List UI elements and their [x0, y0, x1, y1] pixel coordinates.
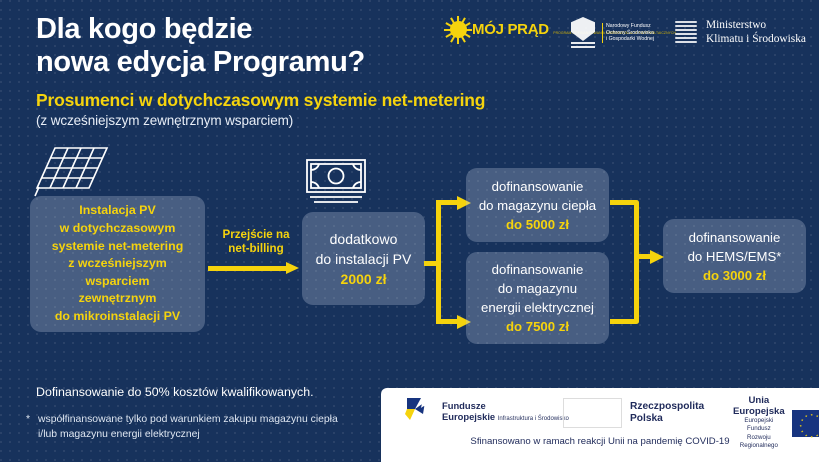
nfosigw-line-3: i Gospodarki Wodnej — [606, 36, 654, 42]
page-title: Dla kogo będzie nowa edycja Programu? — [36, 13, 365, 79]
unia-line-2: Europejski Fundusz — [733, 417, 785, 433]
box-heat-line-2: do magazynu ciepła — [479, 196, 596, 215]
footer-logo-group: Fundusze Europejskie Infrastruktura i Śr… — [381, 394, 819, 432]
footnote: * współfinansowane tylko pod warunkiem z… — [26, 412, 376, 442]
ministry-line-2: Klimatu i Środowiska — [706, 33, 806, 45]
fundusze-line-3: Infrastruktura i Środowisko — [498, 416, 569, 422]
title-line-1: Dla kogo będzie — [36, 13, 252, 45]
box-extra-line-1: dodatkowo — [316, 229, 412, 249]
rzeczpospolita-polska-logo: Rzeczpospolita Polska — [563, 398, 704, 428]
box-heat-storage-funding[interactable]: dofinansowanie do magazynu ciepła do 500… — [466, 168, 609, 242]
box-electricity-storage-funding[interactable]: dofinansowanie do magazynu energii elekt… — [466, 252, 609, 344]
funding-note: Dofinansowanie do 50% kosztów kwalifikow… — [36, 385, 314, 399]
box-pv-line-1: Instalacja PV — [52, 202, 184, 220]
box-heat-line-1: dofinansowanie — [479, 177, 596, 196]
box-pv-line-3: systemie net-metering — [52, 238, 184, 256]
infographic-canvas: Dla kogo będzie nowa edycja Programu? Pr… — [0, 0, 819, 462]
transition-arrow-label: Przejście na net-billing — [210, 228, 302, 256]
box-extra-amount: 2000 zł — [316, 269, 412, 289]
banknote-icon — [305, 158, 367, 206]
footnote-line-1: współfinansowane tylko pod warunkiem zak… — [38, 412, 376, 427]
box-electricity-amount: do 7500 zł — [481, 317, 594, 336]
ministry-logo: Ministerstwo Klimatu i Środowiska — [673, 18, 806, 48]
header-logo-group: MÓJ PRĄD PROGRAM DOFINANSOWANIA MIKROINS… — [445, 10, 811, 56]
footnote-star: * — [26, 412, 30, 427]
ministry-emblem-icon — [673, 18, 699, 48]
box-pv-line-6: zewnętrznym — [52, 290, 184, 308]
arrow-pv-to-extra — [208, 262, 304, 274]
title-line-2: nowa edycja Programu? — [36, 46, 365, 78]
footer-band: Fundusze Europejskie Infrastruktura i Śr… — [381, 388, 819, 462]
box-extra-pv-funding[interactable]: dodatkowo do instalacji PV 2000 zł — [302, 212, 425, 305]
fundusze-line-2: Europejskie — [442, 411, 495, 422]
box-pv-line-5: wsparciem — [52, 273, 184, 291]
nfosigw-emblem-icon — [568, 16, 598, 50]
box-electricity-line-3: energii elektrycznej — [481, 298, 594, 317]
arrow-merge-to-hems — [610, 188, 668, 346]
rzeczpospolita-line-2: Polska — [630, 413, 663, 424]
box-electricity-line-2: do magazynu — [481, 279, 594, 298]
transition-label-line-2: net-billing — [228, 242, 283, 255]
ministry-line-1: Ministerstwo — [706, 19, 766, 31]
box-pv-line-7: do mikroinstalacji PV — [52, 308, 184, 326]
fundusze-europejskie-logo: Fundusze Europejskie Infrastruktura i Śr… — [403, 396, 569, 428]
moj-prad-name: MÓJ PRĄD — [472, 21, 549, 38]
subtitle-note: (z wcześniejszym zewnętrznym wsparciem) — [36, 113, 293, 128]
unia-line-1: Unia Europejska — [733, 395, 785, 417]
box-electricity-line-1: dofinansowanie — [481, 260, 594, 279]
fundusze-line-1: Fundusze — [442, 400, 486, 411]
fundusze-europejskie-icon — [403, 396, 437, 428]
box-pv-installation[interactable]: Instalacja PV w dotychczasowym systemie … — [30, 196, 205, 332]
rzeczpospolita-line-1: Rzeczpospolita — [630, 401, 704, 412]
nfosigw-logo: Narodowy Fundusz Ochrony Środowiska i Go… — [568, 16, 654, 50]
poland-flag-icon — [563, 398, 622, 428]
box-pv-line-2: w dotychczasowym — [52, 220, 184, 238]
box-extra-line-2: do instalacji PV — [316, 249, 412, 269]
box-hems-line-1: dofinansowanie — [688, 228, 782, 247]
box-hems-ems-funding[interactable]: dofinansowanie do HEMS/EMS* do 3000 zł — [663, 219, 806, 293]
box-pv-line-4: z wcześniejszym — [52, 255, 184, 273]
transition-label-line-1: Przejście na — [222, 228, 289, 241]
box-hems-amount: do 3000 zł — [688, 266, 782, 285]
sun-icon — [445, 17, 471, 43]
footer-caption: Sfinansowano w ramach reakcji Unii na pa… — [381, 436, 819, 447]
eu-flag-icon — [792, 410, 819, 437]
footnote-line-2: i/lub magazynu energii elektrycznej — [38, 427, 376, 442]
nfosigw-line-1: Narodowy Fundusz — [606, 23, 651, 29]
nfosigw-line-2: Ochrony Środowiska — [606, 30, 654, 36]
solar-panel-icon — [33, 146, 109, 198]
box-hems-line-2: do HEMS/EMS* — [688, 247, 782, 266]
subtitle: Prosumenci w dotychczasowym systemie net… — [36, 90, 485, 111]
box-heat-amount: do 5000 zł — [479, 215, 596, 234]
